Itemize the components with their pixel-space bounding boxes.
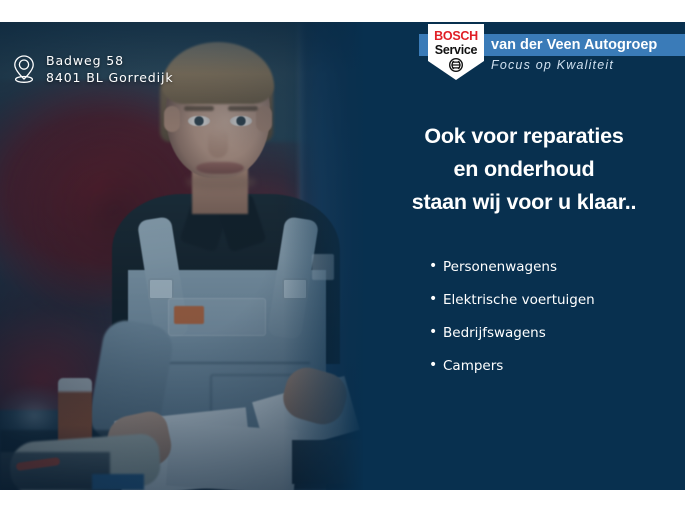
headline-line-2: en onderhoud (371, 153, 677, 186)
list-item: Bedrijfswagens (429, 326, 595, 341)
list-item: Campers (429, 359, 595, 374)
headline-line-3: staan wij voor u klaar.. (371, 186, 677, 219)
bosch-wordmark: BOSCH (428, 29, 484, 43)
info-panel: BOSCH Service van der Veen Autogroep Foc… (363, 22, 685, 490)
headline: Ook voor reparaties en onderhoud staan w… (371, 120, 677, 219)
mechanic-photo (0, 22, 363, 490)
service-wordmark: Service (428, 43, 484, 57)
headline-line-1: Ook voor reparaties (371, 120, 677, 153)
company-tagline: Focus op Kwaliteit (491, 58, 614, 72)
location-pin-icon (12, 54, 36, 84)
list-item: Elektrische voertuigen (429, 293, 595, 308)
company-name: van der Veen Autogroep (491, 34, 657, 56)
services-list: Personenwagens Elektrische voertuigen Be… (429, 260, 595, 392)
list-item: Personenwagens (429, 260, 595, 275)
bosch-service-logo[interactable]: BOSCH Service (428, 24, 484, 80)
address-block: Badweg 58 8401 BL Gorredijk (12, 52, 174, 86)
address-line-2: 8401 BL Gorredijk (46, 70, 174, 85)
address-text: Badweg 58 8401 BL Gorredijk (46, 52, 174, 86)
address-line-1: Badweg 58 (46, 53, 124, 68)
photo-right-fade (283, 22, 363, 490)
bosch-armature-icon (449, 58, 463, 72)
advertisement-banner[interactable]: Badweg 58 8401 BL Gorredijk BOSCH Servic… (0, 22, 685, 490)
